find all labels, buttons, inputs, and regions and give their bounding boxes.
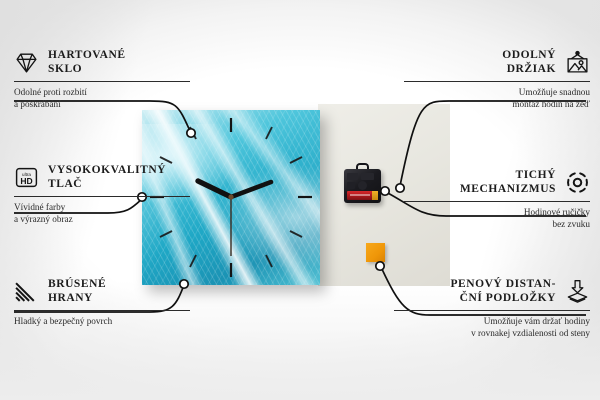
feature-title: TICHÝ MECHANIZMUS	[460, 168, 556, 196]
divider	[14, 196, 190, 197]
feature-durable-holder: ODOLNÝ DRŽIAK Umožňuje snadnou montáž ho…	[404, 48, 590, 110]
feature-description: Umožňuje snadnou montáž hodin na zeď	[404, 87, 590, 110]
svg-text:HD: HD	[20, 175, 32, 185]
picture-hanger-icon	[565, 50, 590, 75]
feature-description: Umožňuje vám držať hodiny v rovnakej vzd…	[394, 316, 590, 339]
feature-silent-mechanism: TICHÝ MECHANIZMUS Hodinové ručičky bez z…	[404, 168, 590, 230]
diamond-icon	[14, 50, 39, 75]
connector-dot	[376, 262, 384, 270]
connector-dot	[187, 129, 195, 137]
divider	[404, 201, 590, 202]
feature-description: Odolné proti rozbití a poškrábání	[14, 87, 190, 110]
feature-ground-edges: BRÚSENÉ HRANY Hladký a bezpečný povrch	[14, 277, 190, 328]
press-layers-icon	[565, 279, 590, 304]
hatched-edge-icon	[14, 279, 39, 304]
feature-description: Hodinové ručičky bez zvuku	[404, 207, 590, 230]
feature-description: Hladký a bezpečný povrch	[14, 316, 190, 328]
divider	[394, 310, 590, 311]
feature-tempered-glass: HARTOVANÉ SKLO Odolné proti rozbití a po…	[14, 48, 190, 110]
infographic-canvas: HARTOVANÉ SKLO Odolné proti rozbití a po…	[0, 0, 600, 400]
feature-foam-spacers: PENOVÝ DISTAN- ČNÍ PODLOŽKY Umožňuje vám…	[394, 277, 590, 339]
feature-title: PENOVÝ DISTAN- ČNÍ PODLOŽKY	[450, 277, 556, 305]
feature-title: BRÚSENÉ HRANY	[48, 277, 106, 305]
feature-description: Vívidné farby a výrazný obraz	[14, 202, 190, 225]
divider	[404, 81, 590, 82]
connector-dot	[381, 187, 389, 195]
ultra-hd-icon: ultra HD	[14, 165, 39, 190]
gear-icon	[565, 170, 590, 195]
feature-title: ODOLNÝ DRŽIAK	[502, 48, 556, 76]
feature-high-quality-print: ultra HD VYSOKOKVALITNÝ TLAČ Vívidné far…	[14, 163, 190, 225]
feature-title: VYSOKOKVALITNÝ TLAČ	[48, 163, 166, 191]
divider	[14, 81, 190, 82]
connector-dot	[396, 184, 404, 192]
divider	[14, 310, 190, 311]
feature-title: HARTOVANÉ SKLO	[48, 48, 126, 76]
